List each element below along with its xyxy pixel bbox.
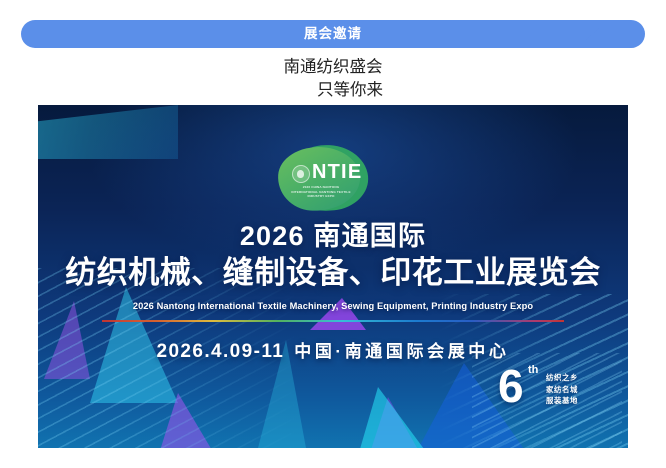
invitation-banner-label: 展会邀请	[304, 27, 362, 41]
edition-tagline-2: 家纺名城	[546, 384, 578, 396]
poster-date: 2026.4.09-11	[156, 341, 284, 362]
poster-title-cn-line2: 纺织机械、缝制设备、印花工业展览会	[38, 257, 628, 288]
edition-taglines: 纺织之乡 家纺名城 服装基地	[546, 372, 578, 407]
edition-tagline-1: 纺织之乡	[546, 372, 578, 384]
poster-venue: 中国·南通国际会展中心	[284, 342, 509, 361]
invitation-banner-body: 展会邀请	[21, 20, 645, 48]
edition-number: 6	[498, 363, 524, 409]
poster-title-cn-line1: 2026 南通国际	[38, 223, 628, 250]
decorative-triangle-cyan-3	[360, 387, 424, 448]
poster-date-venue: 2026.4.09-11中国·南通国际会展中心	[38, 342, 628, 361]
banner-tail-pointer	[585, 27, 600, 41]
poster-title-en: 2026 Nantong International Textile Machi…	[38, 302, 628, 311]
expo-poster[interactable]: NTIE 2026 CHINA NANTONG INTERNATIONAL NA…	[38, 105, 628, 448]
logo-subtitle: 2026 CHINA NANTONG INTERNATIONAL NANTONG…	[289, 185, 353, 199]
edition-badge: 6 th 纺织之乡 家纺名城 服装基地	[498, 363, 624, 425]
intro-line-2: 只等你来	[0, 79, 666, 102]
intro-line-1: 南通纺织盛会	[0, 56, 666, 79]
ntie-logo: NTIE 2026 CHINA NANTONG INTERNATIONAL NA…	[278, 143, 374, 215]
logo-wordmark: NTIE	[312, 162, 362, 182]
edition-ordinal: th	[528, 365, 538, 376]
rainbow-divider	[102, 320, 564, 322]
invitation-banner: 展会邀请	[21, 20, 645, 48]
intro-text: 南通纺织盛会 只等你来	[0, 56, 666, 102]
logo-emblem-icon	[292, 165, 310, 183]
edition-tagline-3: 服装基地	[546, 395, 578, 407]
